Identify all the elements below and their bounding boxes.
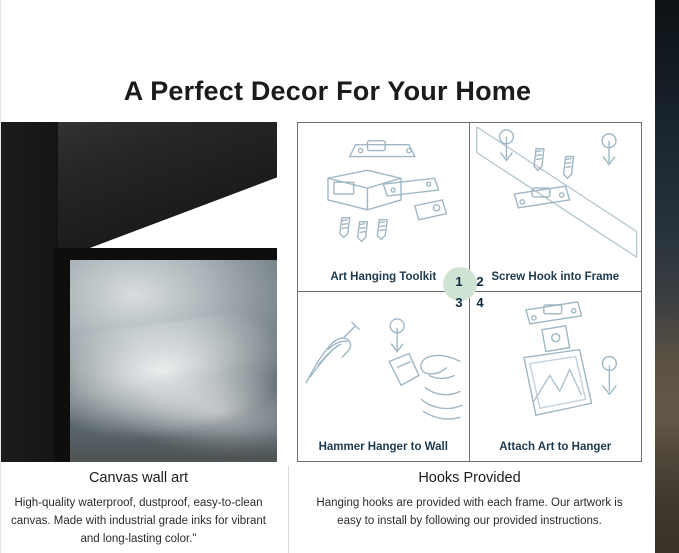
feature-block-hooks: Hooks Provided Hanging hooks are provide… [297, 470, 642, 531]
instruction-caption-1: Art Hanging Toolkit [298, 271, 469, 283]
left-edge-divider [0, 0, 1, 553]
feature-heading-canvas: Canvas wall art [0, 470, 277, 486]
page-title: A Perfect Decor For Your Home [0, 76, 655, 107]
content-area: A Perfect Decor For Your Home [0, 0, 655, 553]
hammer-hanger-icon [298, 292, 469, 439]
instruction-cell-4: Attach Art to Hanger [470, 292, 642, 461]
attach-art-icon [470, 292, 642, 439]
framed-artwork-photo [0, 122, 277, 462]
feature-body-hooks: Hanging hooks are provided with each fra… [297, 495, 642, 531]
instruction-cell-1: Art Hanging Toolkit [298, 123, 470, 292]
dark-landscape-photo-strip [655, 0, 679, 553]
column-divider [288, 466, 289, 553]
frame-left-bevel [0, 122, 58, 462]
instruction-grid: Art Hanging Toolkit [297, 122, 642, 462]
instruction-cell-3: Hammer Hanger to Wall [298, 292, 470, 461]
picture-frame [0, 122, 277, 462]
instruction-cell-2: Screw Hook into Frame [470, 123, 642, 292]
product-detail-image: A Perfect Decor For Your Home [0, 0, 679, 553]
instruction-caption-3: Hammer Hanger to Wall [298, 441, 469, 453]
instruction-caption-4: Attach Art to Hanger [470, 441, 642, 453]
toolkit-icon [298, 123, 469, 269]
feature-block-canvas: Canvas wall art High-quality waterproof,… [0, 470, 277, 548]
ridge-shadow [70, 430, 277, 462]
screw-hook-icon [470, 123, 642, 269]
feature-heading-hooks: Hooks Provided [297, 470, 642, 486]
mountain-silhouette [655, 363, 679, 553]
instruction-caption-2: Screw Hook into Frame [470, 271, 642, 283]
canvas-print-image [70, 260, 277, 462]
feature-body-canvas: High-quality waterproof, dustproof, easy… [0, 495, 277, 548]
